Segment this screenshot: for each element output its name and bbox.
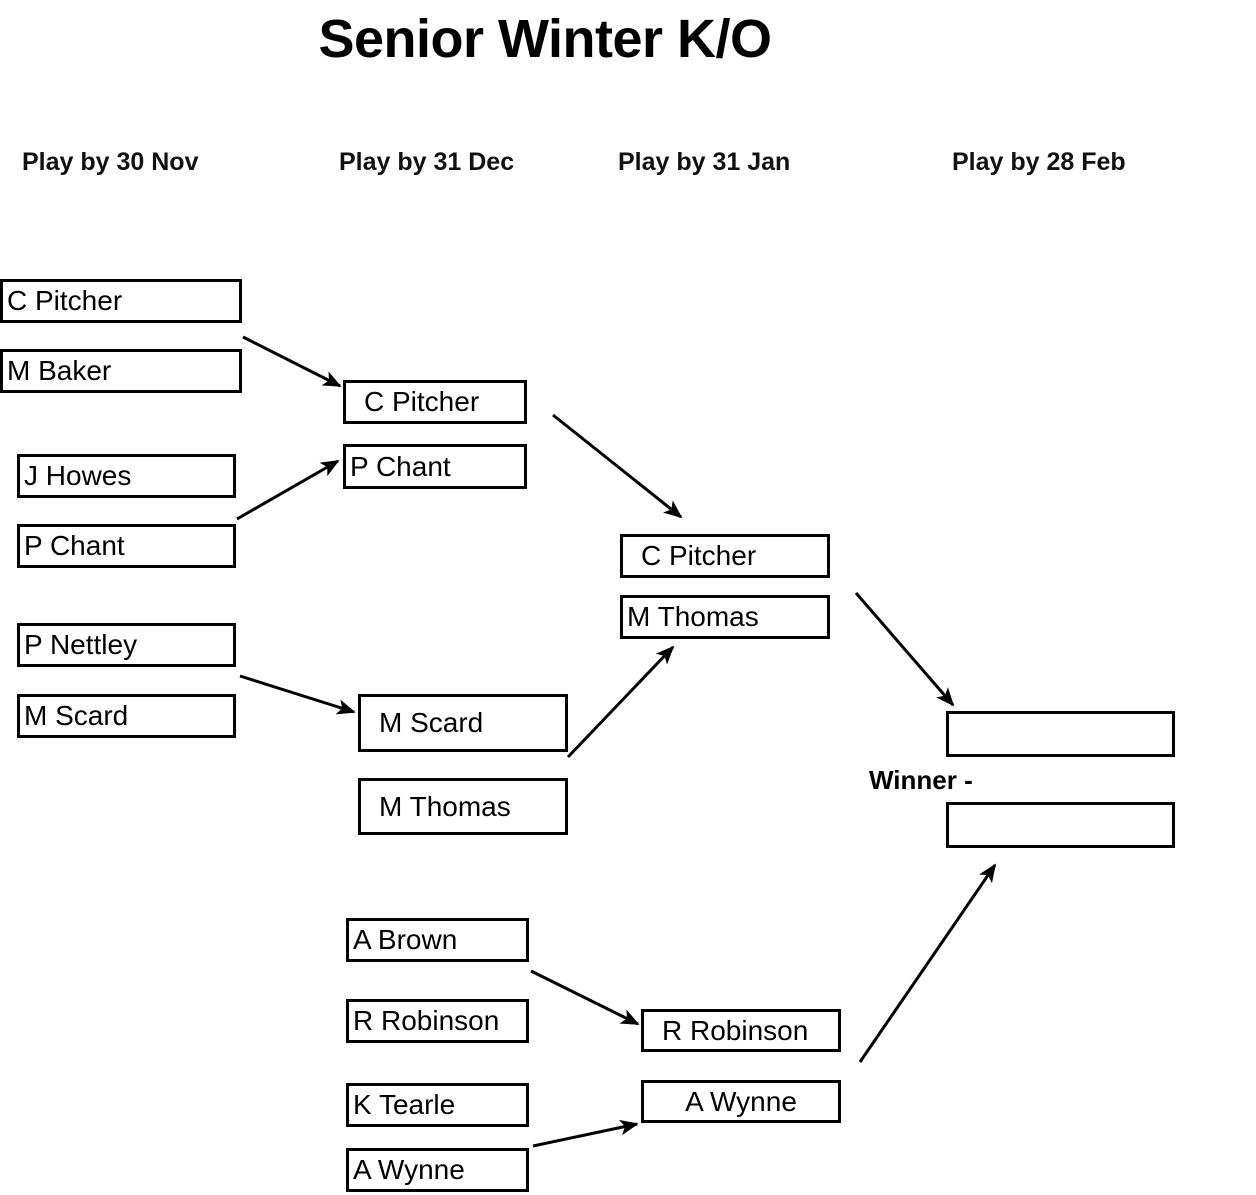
connector-brown-to-r2robinson — [531, 971, 638, 1024]
round3-slot-1[interactable]: C Pitcher — [620, 534, 830, 578]
round1-slot-8[interactable]: R Robinson — [346, 999, 529, 1043]
round-header-2: Play by 31 Dec — [339, 148, 514, 177]
round1-slot-1[interactable]: C Pitcher — [0, 279, 242, 323]
connector-r2wynne-to-final — [860, 865, 995, 1062]
bracket-page: Senior Winter K/O Play by 30 NovPlay by … — [0, 0, 1256, 1195]
round-header-4: Play by 28 Feb — [952, 148, 1126, 177]
final-slot-1[interactable] — [946, 711, 1175, 757]
round2-slot-5[interactable]: R Robinson — [641, 1009, 841, 1052]
round1-slot-10[interactable]: A Wynne — [346, 1148, 529, 1192]
round2-slot-4[interactable]: M Thomas — [358, 778, 568, 835]
round1-slot-2[interactable]: M Baker — [0, 349, 242, 393]
round-header-3: Play by 31 Jan — [618, 148, 790, 177]
page-title: Senior Winter K/O — [0, 8, 1090, 70]
connector-howes-chant-to-r2 — [237, 461, 338, 519]
round3-slot-2[interactable]: M Thomas — [620, 595, 830, 639]
round2-slot-1[interactable]: C Pitcher — [343, 380, 527, 424]
final-slot-2[interactable] — [946, 802, 1175, 848]
round2-slot-6[interactable]: A Wynne — [641, 1080, 841, 1123]
connector-pitcher-baker-to-r2 — [243, 337, 340, 386]
round1-slot-3[interactable]: J Howes — [17, 454, 236, 498]
round1-slot-7[interactable]: A Brown — [346, 918, 529, 962]
connector-r2scard-to-r3 — [568, 647, 673, 757]
winner-label: Winner - — [869, 765, 973, 796]
round1-slot-6[interactable]: M Scard — [17, 694, 236, 738]
round-header-1: Play by 30 Nov — [22, 148, 198, 177]
round2-slot-2[interactable]: P Chant — [343, 444, 527, 489]
round1-slot-5[interactable]: P Nettley — [17, 623, 236, 667]
round2-slot-3[interactable]: M Scard — [358, 694, 568, 752]
connector-r2top-to-r3 — [553, 415, 681, 517]
connector-r3-to-final — [856, 593, 953, 705]
round1-slot-4[interactable]: P Chant — [17, 524, 236, 568]
connector-nettley-scard-to-r2 — [240, 676, 354, 712]
round1-slot-9[interactable]: K Tearle — [346, 1083, 529, 1127]
connector-wynne-to-r2wynne — [533, 1124, 637, 1146]
